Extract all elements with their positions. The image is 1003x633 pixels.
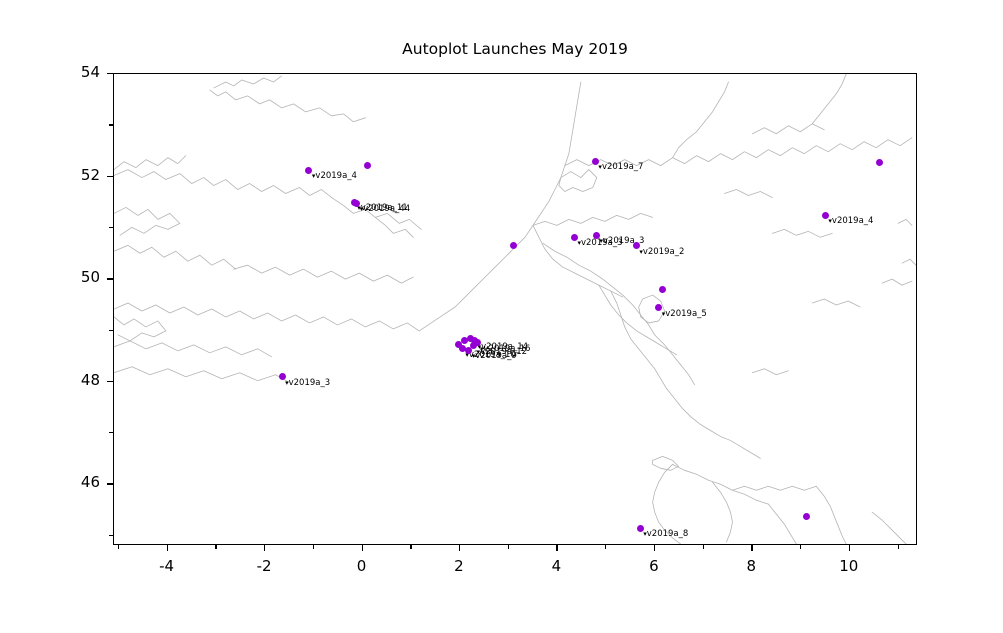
x-tick-minor [508,545,509,549]
x-tick-minor [898,545,899,549]
data-point-label: ▾v2019a_2 [639,247,684,257]
x-tick-minor [313,545,314,549]
data-point[interactable] [364,162,371,169]
x-tick-label: -2 [234,557,294,575]
label-text: v2019a_4 [315,171,357,181]
label-text: v2019a_44 [363,204,410,214]
y-tick-minor [109,432,113,433]
data-point-label: ▾v2019a_4 [828,216,873,226]
y-tick-minor [109,227,113,228]
x-tick-label: 0 [332,557,392,575]
x-tick-minor [118,545,119,549]
data-point-label: ▾v2019a_9 [472,351,517,361]
y-tick-label: 50 [40,268,100,286]
label-text: v2019a_5 [665,309,707,319]
data-point-label: ▾v2019a_7 [598,162,643,172]
data-point-label: ▾v2019a_5 [662,309,707,319]
x-tick-minor [215,545,216,549]
y-tick-major [107,73,113,74]
map-plot-area[interactable]: ▾v2019a_4▾v2019a_11▾v2019a_44▾v2019a_7▾v… [113,73,917,545]
x-tick-major [362,545,363,551]
x-tick-label: 8 [721,557,781,575]
y-tick-minor [109,330,113,331]
x-tick-major [849,545,850,551]
y-tick-label: 46 [40,473,100,491]
figure-canvas: Autoplot Launches May 2019 [0,0,1003,633]
data-point[interactable] [876,159,883,166]
y-tick-label: 48 [40,371,100,389]
data-point-label: ▾v2019a_8 [643,529,688,539]
label-text: v2019a_2 [643,247,685,257]
x-tick-label: 10 [819,557,879,575]
x-tick-minor [410,545,411,549]
x-tick-major [751,545,752,551]
y-tick-major [107,278,113,279]
data-point[interactable] [659,286,666,293]
data-point[interactable] [510,242,517,249]
label-text: v2019a_7 [602,162,644,172]
x-tick-major [264,545,265,551]
page-title: Autoplot Launches May 2019 [113,40,917,58]
data-point-label: ▾v2019a_3 [285,378,330,388]
y-tick-minor [109,535,113,536]
x-tick-major [459,545,460,551]
data-points-layer: ▾v2019a_4▾v2019a_11▾v2019a_44▾v2019a_7▾v… [114,74,916,544]
data-point-label: ▾v2019a_4 [312,171,357,181]
x-tick-label: 6 [624,557,684,575]
y-tick-major [107,483,113,484]
label-text: v2019a_8 [647,529,689,539]
y-tick-label: 54 [40,63,100,81]
x-tick-minor [605,545,606,549]
x-tick-major [654,545,655,551]
x-tick-major [556,545,557,551]
x-tick-label: -4 [137,557,197,575]
x-tick-minor [800,545,801,549]
data-point-label: ▾v2019a_44 [360,204,410,214]
y-tick-major [107,381,113,382]
x-tick-major [167,545,168,551]
x-tick-label: 2 [429,557,489,575]
y-axis-tick-labels: 4648505254 [38,0,100,633]
label-text: v2019a_9 [475,351,517,361]
x-tick-minor [703,545,704,549]
label-text: v2019a_4 [832,216,874,226]
x-tick-label: 4 [526,557,586,575]
y-tick-minor [109,124,113,125]
y-tick-label: 52 [40,166,100,184]
y-tick-major [107,176,113,177]
data-point[interactable] [803,513,810,520]
label-text: v2019a_3 [289,378,331,388]
